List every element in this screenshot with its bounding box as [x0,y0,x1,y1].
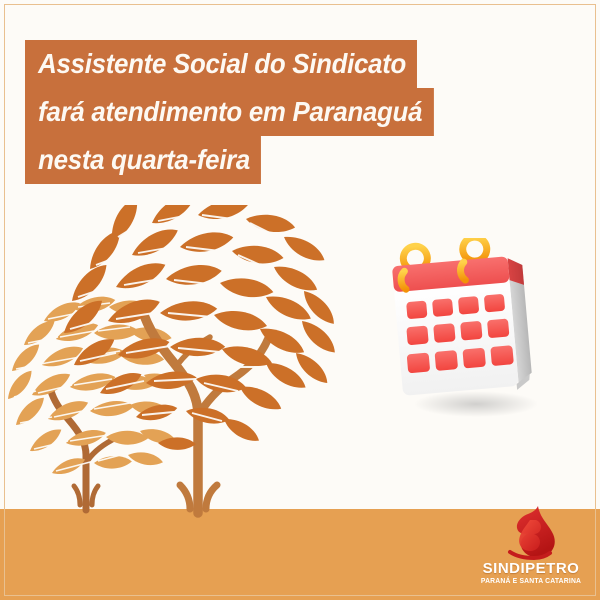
sindipetro-logo: SINDIPETRO PARANÁ E SANTA CATARINA [476,504,586,592]
headline: Assistente Social do Sindicato fará aten… [25,40,460,184]
headline-line-2: fará atendimento em Paranaguá [25,88,433,136]
headline-line-1: Assistente Social do Sindicato [25,40,417,88]
logo-title: SINDIPETRO [476,561,586,576]
small-tree [8,295,183,510]
poster-canvas: Assistente Social do Sindicato fará aten… [0,0,600,600]
headline-line-3: nesta quarta-feira [25,136,261,184]
logo-subtitle: PARANÁ E SANTA CATARINA [478,577,585,586]
calendar-3d-icon [378,238,558,423]
trees-illustration [8,205,378,520]
flame-icon [476,504,586,560]
